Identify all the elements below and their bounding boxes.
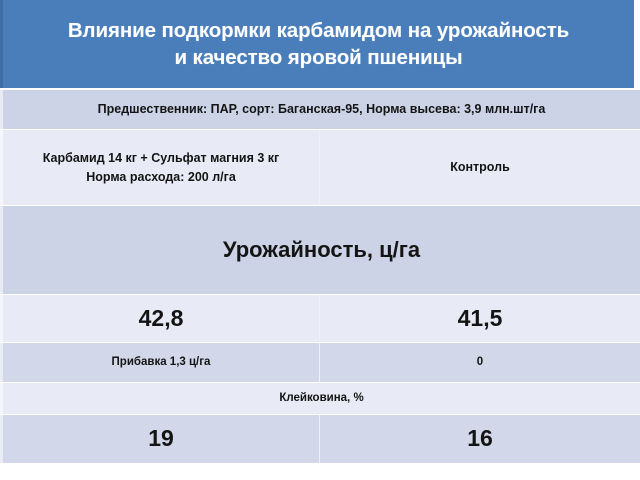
page-title: Влияние подкормки карбамидом на урожайно…: [54, 17, 583, 71]
yield-value-experimental: 42,8: [0, 295, 320, 342]
table-row-yield-header: Урожайность, ц/га: [0, 206, 640, 295]
gain-value-control: 0: [320, 343, 640, 382]
title-line-1: Влияние подкормки карбамидом на урожайно…: [68, 17, 569, 44]
table-row-gain: Прибавка 1,3 ц/га 0: [0, 343, 640, 383]
treatment-cell-experimental: Карбамид 14 кг + Сульфат магния 3 кг Нор…: [0, 130, 320, 205]
table-row-yield-values: 42,8 41,5: [0, 295, 640, 343]
table-row-treatment: Карбамид 14 кг + Сульфат магния 3 кг Нор…: [0, 130, 640, 206]
yield-header-cell: Урожайность, ц/га: [0, 206, 640, 294]
gluten-value-experimental: 19: [0, 415, 320, 463]
table-row-gluten-header: Клейковина, %: [0, 383, 640, 415]
gluten-header-cell: Клейковина, %: [0, 383, 640, 414]
treatment-line-1: Карбамид 14 кг + Сульфат магния 3 кг: [43, 149, 280, 167]
gain-value-experimental: Прибавка 1,3 ц/га: [0, 343, 320, 382]
title-band-right-margin: [634, 0, 640, 88]
yield-value-control: 41,5: [320, 295, 640, 342]
title-band: Влияние подкормки карбамидом на урожайно…: [0, 0, 634, 88]
conditions-cell: Предшественник: ПАР, сорт: Баганская-95,…: [0, 90, 640, 129]
table-row-gluten-values: 19 16: [0, 415, 640, 463]
results-table: Предшественник: ПАР, сорт: Баганская-95,…: [0, 90, 640, 480]
treatment-line-2: Норма расхода: 200 л/га: [43, 168, 280, 186]
title-line-2: и качество яровой пшеницы: [68, 44, 569, 71]
table-row-conditions: Предшественник: ПАР, сорт: Баганская-95,…: [0, 90, 640, 130]
slide-root: Влияние подкормки карбамидом на урожайно…: [0, 0, 640, 480]
treatment-cell-control: Контроль: [320, 130, 640, 205]
gluten-value-control: 16: [320, 415, 640, 463]
